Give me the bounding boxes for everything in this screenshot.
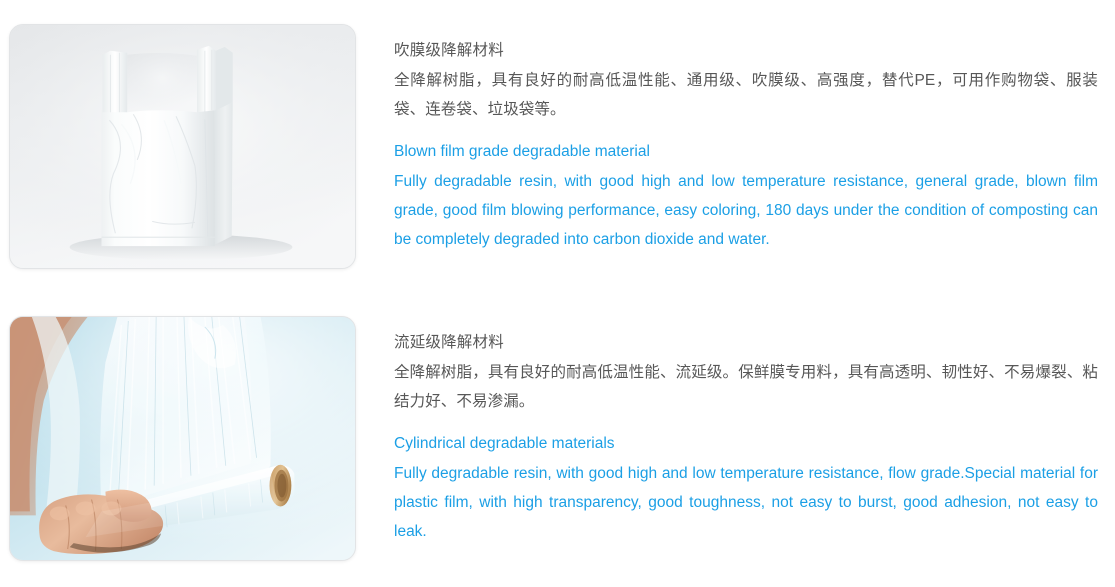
product-description-chinese: 全降解树脂，具有良好的耐高低温性能、通用级、吹膜级、高强度，替代PE，可用作购物… [394, 66, 1098, 124]
product-list-page: 吹膜级降解材料 全降解树脂，具有良好的耐高低温性能、通用级、吹膜级、高强度，替代… [0, 0, 1115, 587]
white-t-shirt-plastic-bag-photo [10, 25, 355, 268]
product-item: 流延级降解材料 全降解树脂，具有良好的耐高低温性能、流延级。保鲜膜专用料，具有高… [0, 316, 1098, 561]
product-image-card[interactable] [9, 24, 356, 269]
product-title-chinese: 吹膜级降解材料 [394, 38, 1098, 64]
product-item: 吹膜级降解材料 全降解树脂，具有良好的耐高低温性能、通用级、吹膜级、高强度，替代… [0, 24, 1098, 269]
text-spacer [394, 416, 1098, 430]
hand-holding-stretch-film-roll-photo [10, 317, 355, 560]
product-title-chinese: 流延级降解材料 [394, 330, 1098, 356]
product-description-chinese: 全降解树脂，具有良好的耐高低温性能、流延级。保鲜膜专用料，具有高透明、韧性好、不… [394, 358, 1098, 416]
product-title-english: Cylindrical degradable materials [394, 430, 1098, 457]
text-spacer [394, 124, 1098, 138]
product-image-card[interactable] [9, 316, 356, 561]
product-description-english: Fully degradable resin, with good high a… [394, 459, 1098, 546]
product-title-english: Blown film grade degradable material [394, 138, 1098, 165]
product-text-column: 吹膜级降解材料 全降解树脂，具有良好的耐高低温性能、通用级、吹膜级、高强度，替代… [394, 24, 1098, 254]
product-text-column: 流延级降解材料 全降解树脂，具有良好的耐高低温性能、流延级。保鲜膜专用料，具有高… [394, 316, 1098, 546]
product-description-english: Fully degradable resin, with good high a… [394, 167, 1098, 254]
